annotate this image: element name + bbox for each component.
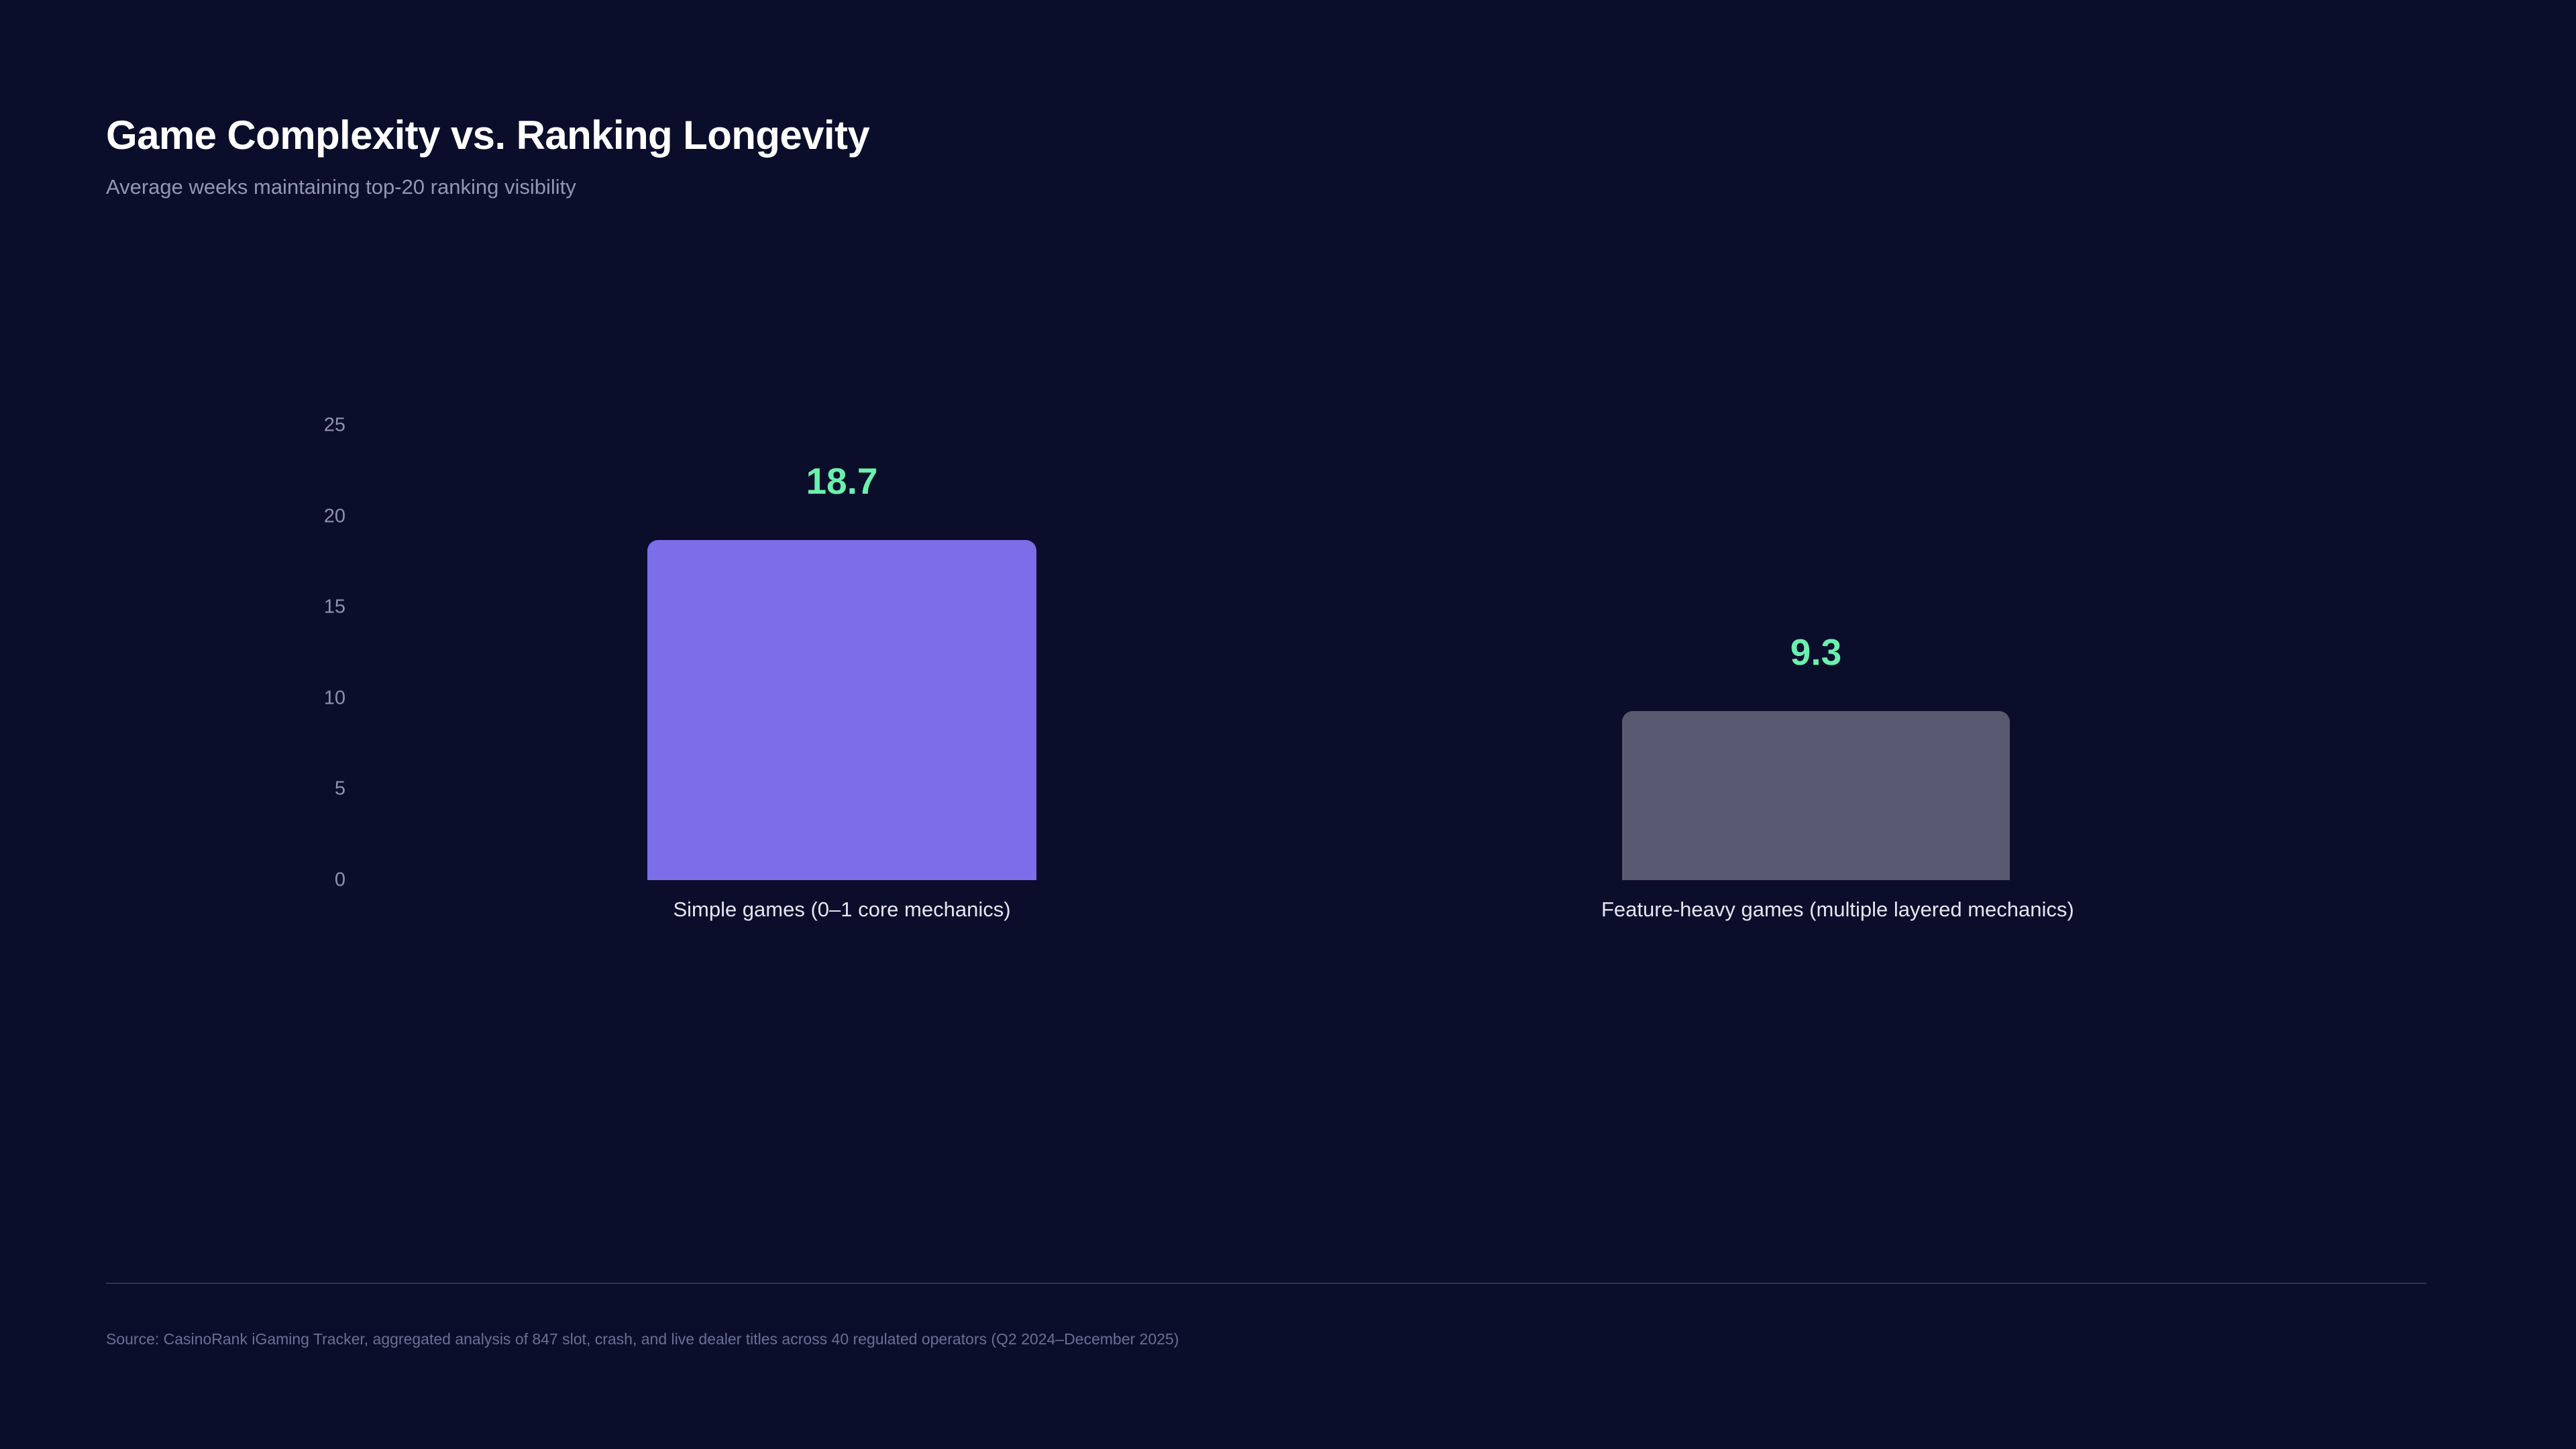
y-axis-tick: 0	[252, 869, 345, 892]
y-axis-tick: 15	[252, 596, 345, 619]
bar-group[interactable]: 9.3 Feature-heavy games (multiple layere…	[1601, 0, 2031, 939]
bar-value-label: 9.3	[1601, 631, 2031, 674]
bar-rect[interactable]	[1622, 711, 2010, 880]
y-axis-tick: 10	[252, 688, 345, 710]
bar-rect[interactable]	[647, 540, 1036, 880]
chart-root: Game Complexity vs. Ranking Longevity Av…	[0, 0, 2576, 1449]
source-note: Source: CasinoRank iGaming Tracker, aggr…	[106, 1330, 1179, 1348]
bar-category-label: Feature-heavy games (multiple layered me…	[1601, 898, 2031, 922]
y-axis-tick: 20	[252, 506, 345, 528]
bar-group[interactable]: 18.7 Simple games (0–1 core mechanics)	[627, 0, 1057, 939]
y-axis-tick: 25	[252, 415, 345, 437]
plot-area: 25 20 15 10 5 0 18.7 Simple games (0–1 c…	[0, 0, 2576, 1449]
y-axis-tick: 5	[252, 778, 345, 800]
bar-value-label: 18.7	[627, 460, 1057, 502]
bar-category-label: Simple games (0–1 core mechanics)	[627, 898, 1057, 922]
footer-divider	[106, 1283, 2426, 1284]
